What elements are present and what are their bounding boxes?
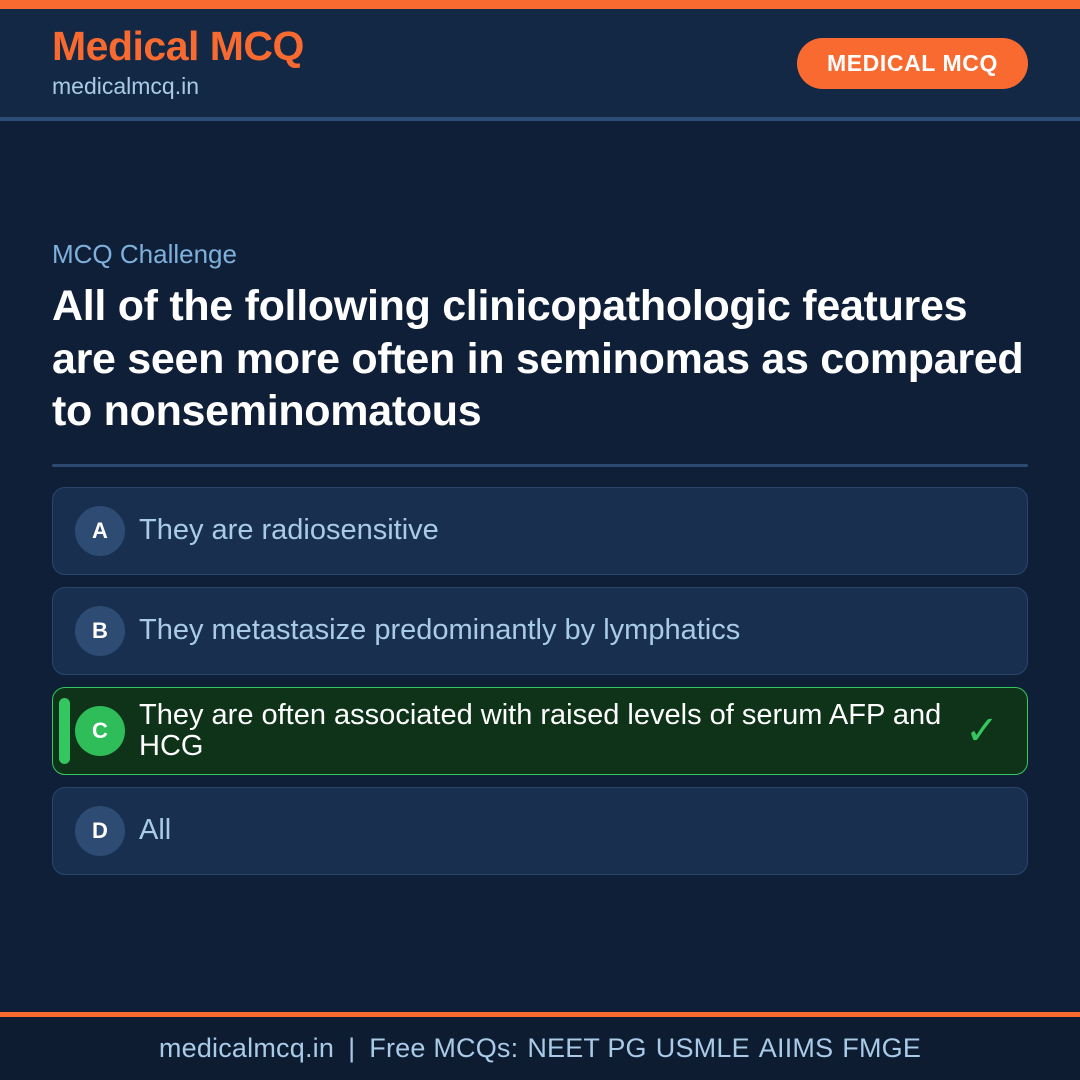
footer-tag-1: USMLE (647, 1033, 750, 1063)
option-c[interactable]: CThey are often associated with raised l… (52, 687, 1028, 775)
option-letter-badge: A (75, 506, 125, 556)
top-accent-bar (0, 0, 1080, 9)
footer-separator: | (334, 1033, 369, 1063)
footer-site: medicalmcq.in (159, 1033, 334, 1063)
option-b[interactable]: BThey metastasize predominantly by lymph… (52, 587, 1028, 675)
option-text: They are often associated with raised le… (139, 700, 959, 762)
brand-badge-pill: MEDICAL MCQ (797, 38, 1028, 89)
brand-block: Medical MCQ medicalmcq.in (52, 25, 304, 102)
option-letter-badge: B (75, 606, 125, 656)
footer-tag-2: AIIMS (750, 1033, 834, 1063)
option-letter-badge: C (75, 706, 125, 756)
option-a[interactable]: AThey are radiosensitive (52, 487, 1028, 575)
footer-tag-3: FMGE (833, 1033, 921, 1063)
footer-text: medicalmcq.in|Free MCQs:NEET PGUSMLEAIIM… (159, 1033, 921, 1064)
option-letter-badge: D (75, 806, 125, 856)
header-bar: Medical MCQ medicalmcq.in MEDICAL MCQ (0, 9, 1080, 121)
brand-title: Medical MCQ (52, 25, 304, 68)
option-text: They are radiosensitive (139, 515, 959, 546)
brand-subtitle: medicalmcq.in (52, 72, 304, 102)
mcq-card: Medical MCQ medicalmcq.in MEDICAL MCQ MC… (0, 0, 1080, 1080)
option-text: They metastasize predominantly by lympha… (139, 615, 959, 646)
correct-accent-bar (59, 698, 70, 764)
option-text: All (139, 815, 959, 846)
question-body: MCQ Challenge All of the following clini… (0, 121, 1080, 1012)
question-eyebrow: MCQ Challenge (52, 239, 1028, 270)
question-text: All of the following clinicopathologic f… (52, 280, 1028, 437)
footer-lead: Free MCQs: (369, 1033, 518, 1063)
options-list: AThey are radiosensitiveBThey metastasiz… (52, 487, 1028, 875)
correct-check-icon: ✓ (959, 711, 1005, 751)
question-divider (52, 464, 1028, 467)
footer-tag-0: NEET PG (518, 1033, 646, 1063)
footer-bar: medicalmcq.in|Free MCQs:NEET PGUSMLEAIIM… (0, 1012, 1080, 1080)
option-d[interactable]: DAll (52, 787, 1028, 875)
